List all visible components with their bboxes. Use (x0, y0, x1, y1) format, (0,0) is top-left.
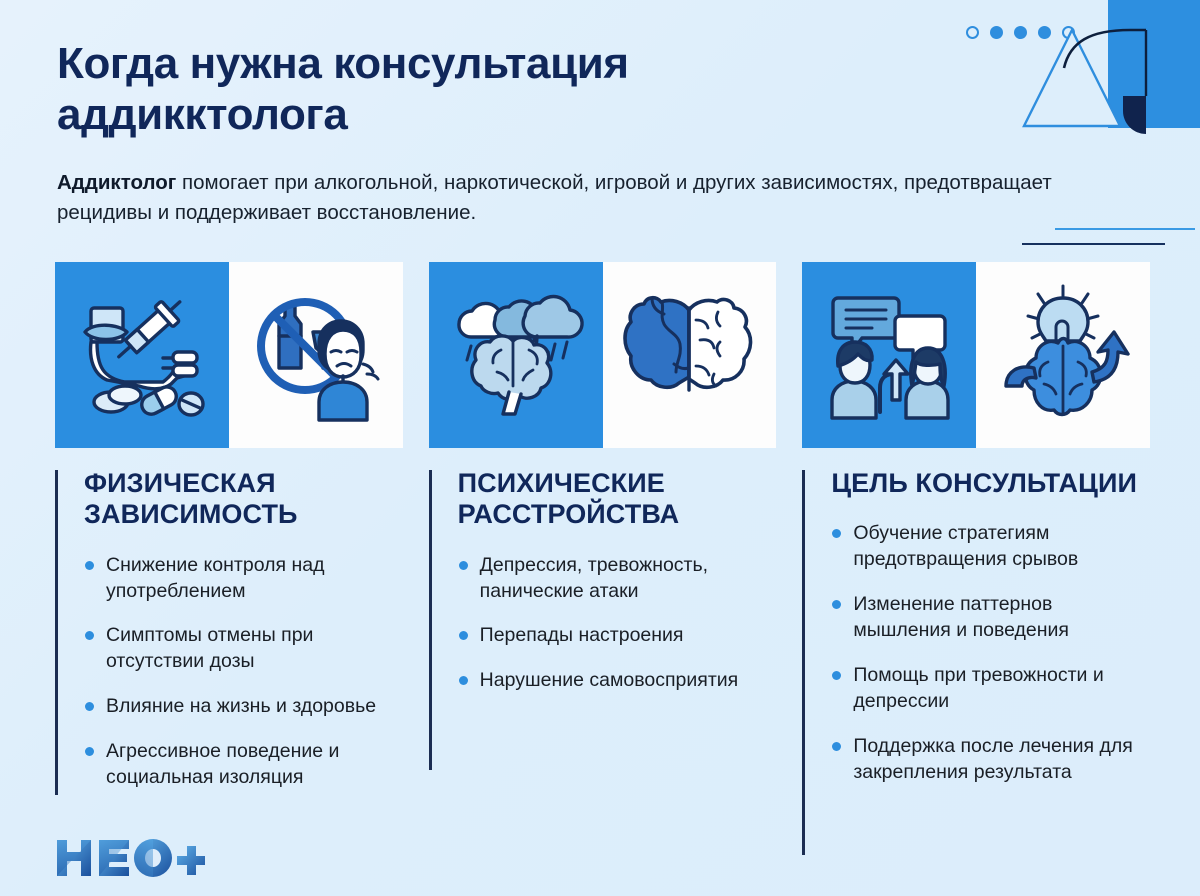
decor-line-navy (1022, 243, 1165, 245)
tile-no-alcohol-sad-person (229, 262, 403, 448)
tile-brain-lightbulb-arrows (976, 262, 1150, 448)
arm-syringe-pills-icon (67, 280, 217, 430)
brain-lightbulb-arrows-icon (988, 280, 1138, 430)
no-alcohol-sad-person-icon (241, 280, 391, 430)
tile-brain-storm-clouds (429, 262, 603, 448)
illustration-tiles (55, 262, 1150, 448)
page-subtitle: Аддиктолог помогает при алкогольной, нар… (57, 168, 1107, 229)
column-bullet-list: Снижение контроля над употреблением Симп… (84, 553, 403, 791)
column-heading: ЦЕЛЬ КОНСУЛЬТАЦИИ (831, 468, 1150, 499)
tile-arm-syringe-pills (55, 262, 229, 448)
tile-people-speech-bubbles (802, 262, 976, 448)
list-item: Обучение стратегиям предотвращения срыво… (831, 521, 1150, 573)
brain-storm-clouds-icon (441, 280, 591, 430)
column-divider (429, 470, 432, 770)
list-item: Перепады настроения (458, 623, 777, 649)
column-consultation-goal: ЦЕЛЬ КОНСУЛЬТАЦИИ Обучение стратегиям пр… (802, 468, 1150, 810)
page-title: Когда нужна консультация аддикктолога (57, 38, 857, 140)
list-item: Снижение контроля над употреблением (84, 553, 403, 605)
column-heading: ПСИХИЧЕСКИЕ РАССТРОЙСТВА (458, 468, 777, 531)
subtitle-bold-term: Аддиктолог (57, 171, 176, 194)
list-item: Агрессивное поведение и социальная изоля… (84, 739, 403, 791)
list-item: Симптомы отмены при отсутствии дозы (84, 623, 403, 675)
subtitle-body: помогает при алкогольной, наркотической,… (57, 171, 1052, 224)
list-item: Влияние на жизнь и здоровье (84, 694, 403, 720)
column-mental-disorders: ПСИХИЧЕСКИЕ РАССТРОЙСТВА Депрессия, трев… (429, 468, 777, 810)
column-divider (55, 470, 58, 795)
neo-plus-logo-icon (55, 836, 205, 880)
column-heading: ФИЗИЧЕСКАЯ ЗАВИСИМОСТЬ (84, 468, 403, 531)
tile-group-goal (802, 262, 1150, 448)
navy-quarter-circle-icon (1123, 96, 1146, 134)
column-divider (802, 470, 805, 855)
tile-group-mental (429, 262, 777, 448)
content-columns: ФИЗИЧЕСКАЯ ЗАВИСИМОСТЬ Снижение контроля… (55, 468, 1150, 810)
list-item: Депрессия, тревожность, панические атаки (458, 553, 777, 605)
people-speech-bubbles-icon (814, 280, 964, 430)
column-physical-dependence: ФИЗИЧЕСКАЯ ЗАВИСИМОСТЬ Снижение контроля… (55, 468, 403, 810)
tile-heart-brain-half (603, 262, 777, 448)
brand-logo (55, 836, 205, 880)
decor-shapes-group (960, 0, 1200, 160)
column-bullet-list: Депрессия, тревожность, панические атаки… (458, 553, 777, 695)
list-item: Изменение паттернов мышления и поведения (831, 592, 1150, 644)
column-bullet-list: Обучение стратегиям предотвращения срыво… (831, 521, 1150, 785)
list-item: Помощь при тревожности и депрессии (831, 663, 1150, 715)
heart-brain-half-icon (614, 280, 764, 430)
tile-group-physical (55, 262, 403, 448)
list-item: Нарушение самовосприятия (458, 668, 777, 694)
triangle-outline-icon (1024, 30, 1120, 126)
list-item: Поддержка после лечения для закрепления … (831, 734, 1150, 786)
